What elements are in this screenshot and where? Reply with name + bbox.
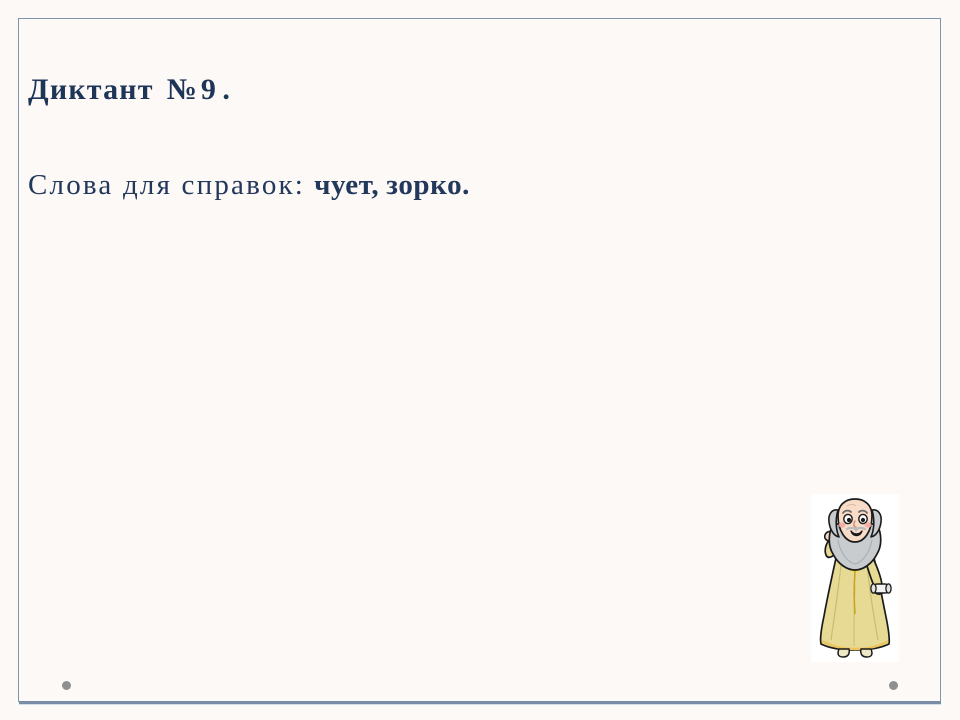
title-word: Диктант [28,73,154,106]
slide-body-text: Слова для справок:чует,зорко. [28,166,888,204]
title-body-spacer [28,110,888,166]
title-period: . [216,73,230,106]
presentation-slide: Диктант№9. Слова для справок:чует,зорко. [0,0,960,720]
body-label: Слова для справок: [28,169,305,201]
bullet-dot-right-icon [889,681,898,690]
bullet-dot-left-icon [62,681,71,690]
slide-title: Диктант№9. [28,70,888,110]
title-number-sign: № [154,73,197,106]
body-word-second: зорко. [379,169,470,201]
title-number: 9 [197,73,217,106]
cartoon-philosopher-socrates-image [811,494,899,662]
body-word-first: чует, [314,169,379,201]
slide-border-bottom-shadow [19,704,941,705]
slide-text-content: Диктант№9. Слова для справок:чует,зорко. [28,70,888,204]
body-reference-words: чует,зорко. [305,169,470,201]
